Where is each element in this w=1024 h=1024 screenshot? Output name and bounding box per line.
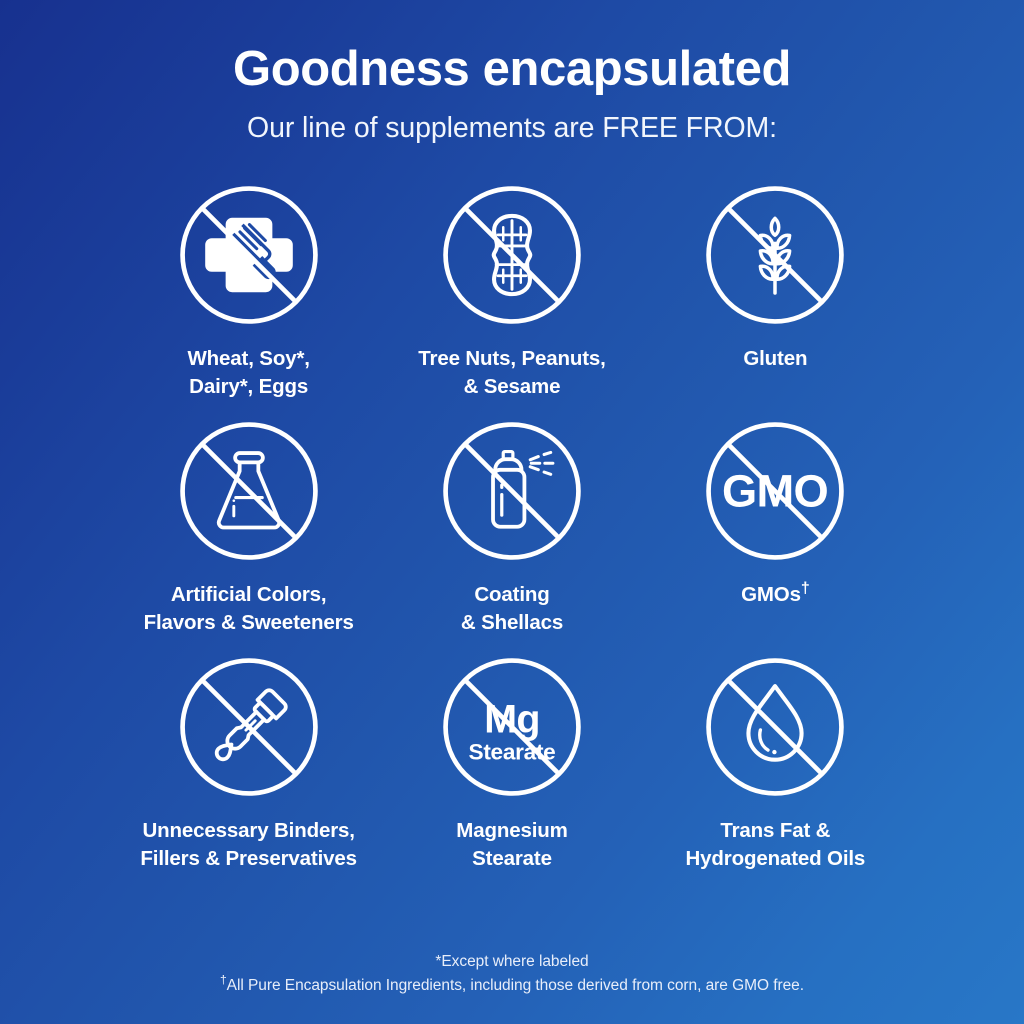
page-subtitle: Our line of supplements are FREE FROM:: [0, 113, 1024, 144]
grid-item-gluten: Gluten: [644, 182, 907, 418]
grid-item-coating-shellacs: Coating & Shellacs: [380, 418, 643, 654]
grid-item-label: Trans Fat & Hydrogenated Oils: [685, 817, 865, 872]
no-dropper-icon: [176, 654, 322, 800]
grid-item-magnesium-stearate: Mg Stearate Magnesium Stearate: [380, 654, 643, 890]
grid-item-label: Coating & Shellacs: [461, 581, 563, 636]
grid-item-gmos: GMO GMOs†: [644, 418, 907, 654]
footnote-asterisk: *Except where labeled: [0, 950, 1024, 974]
footnote-dagger: †All Pure Encapsulation Ingredients, inc…: [0, 974, 1024, 998]
grid-item-label: Unnecessary Binders, Fillers & Preservat…: [140, 817, 357, 872]
infographic-poster: Goodness encapsulated Our line of supple…: [0, 0, 1024, 1024]
grid-item-trans-fat: Trans Fat & Hydrogenated Oils: [644, 654, 907, 890]
no-mg-stearate-text-icon: Mg Stearate: [439, 654, 585, 800]
grid-item-label: Wheat, Soy*, Dairy*, Eggs: [187, 345, 309, 400]
footnote-marker: †: [220, 973, 227, 987]
header: Goodness encapsulated Our line of supple…: [0, 0, 1024, 144]
no-cross-fork-icon: [176, 182, 322, 328]
dagger-marker: †: [801, 580, 810, 597]
grid-item-tree-nuts-peanuts-sesame: Tree Nuts, Peanuts, & Sesame: [380, 182, 643, 418]
page-title: Goodness encapsulated: [0, 44, 1024, 96]
grid-item-label: Tree Nuts, Peanuts, & Sesame: [418, 345, 605, 400]
grid-item-artificial-colors: Artificial Colors, Flavors & Sweeteners: [117, 418, 380, 654]
no-flask-icon: [176, 418, 322, 564]
no-peanut-icon: [439, 182, 585, 328]
footnotes: *Except where labeled †All Pure Encapsul…: [0, 950, 1024, 998]
footnote-text: All Pure Encapsulation Ingredients, incl…: [227, 977, 804, 994]
grid-item-label: Magnesium Stearate: [456, 817, 567, 872]
grid-item-label: Gluten: [743, 345, 807, 372]
no-gmo-text-icon: GMO: [702, 418, 848, 564]
grid-item-label: GMOs†: [741, 581, 810, 608]
grid-item-label: Artificial Colors, Flavors & Sweeteners: [144, 581, 354, 636]
footnote-text: Except where labeled: [441, 953, 588, 970]
no-spray-can-icon: [439, 418, 585, 564]
no-wheat-stalk-icon: [702, 182, 848, 328]
grid-item-label-text: GMOs: [741, 583, 801, 606]
free-from-grid: Wheat, Soy*, Dairy*, Eggs: [117, 182, 907, 890]
grid-item-unnecessary-binders: Unnecessary Binders, Fillers & Preservat…: [117, 654, 380, 890]
no-oil-droplet-icon: [702, 654, 848, 800]
grid-item-wheat-soy-dairy-eggs: Wheat, Soy*, Dairy*, Eggs: [117, 182, 380, 418]
